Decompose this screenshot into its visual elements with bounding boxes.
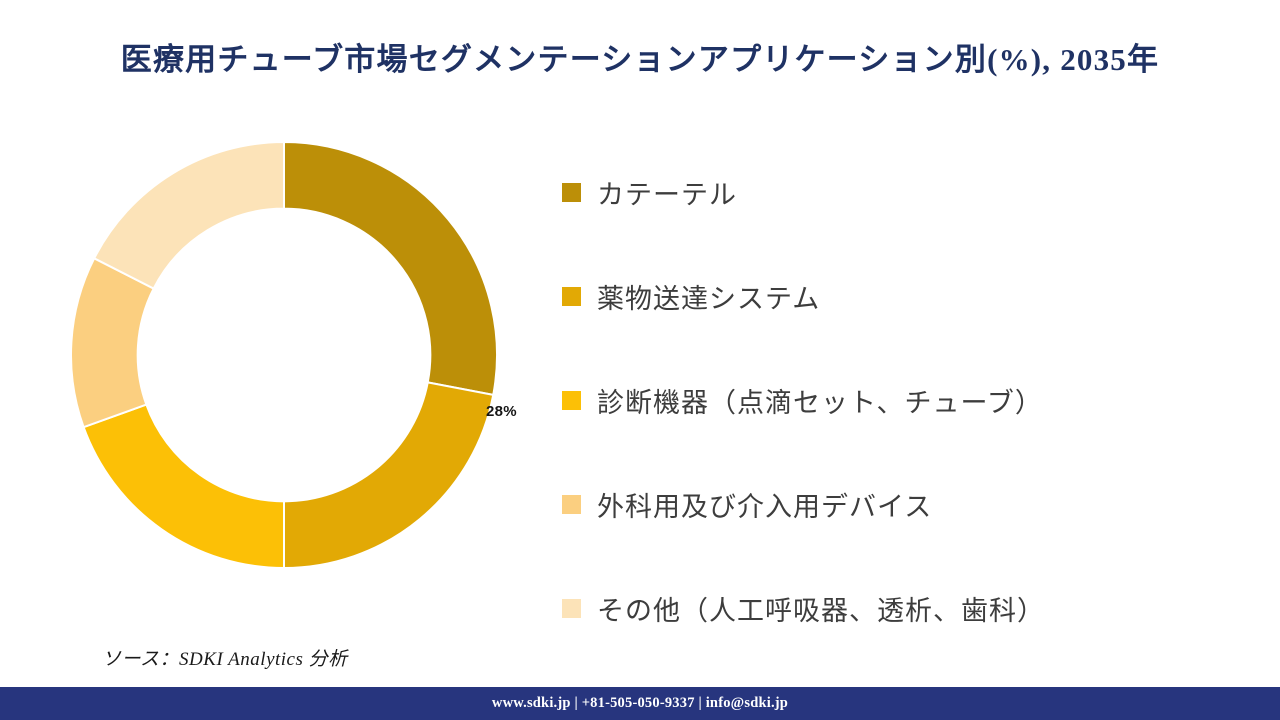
chart-legend: カテーテル 薬物送達システム 診断機器（点滴セット、チューブ） 外科用及び介入用…	[562, 140, 1262, 660]
legend-label-3: 外科用及び介入用デバイス	[597, 485, 932, 524]
legend-swatch-icon-2	[562, 391, 581, 410]
legend-swatch-icon-4	[562, 599, 581, 618]
footer-contact-text: www.sdki.jp | +81-505-050-9337 | info@sd…	[492, 695, 788, 712]
slice-value-label: 28%	[486, 403, 517, 420]
legend-label-0: カテーテル	[597, 173, 737, 212]
legend-item-0[interactable]: カテーテル	[562, 140, 1262, 244]
legend-swatch-icon-1	[562, 287, 581, 306]
legend-label-1: 薬物送達システム	[597, 277, 820, 316]
page-title: 医療用チューブ市場セグメンテーションアプリケーション別(%), 2035年	[0, 34, 1280, 79]
legend-swatch-icon-3	[562, 495, 581, 514]
donut-chart: 28%	[70, 141, 498, 569]
donut-chart-svg	[70, 141, 498, 569]
legend-item-2[interactable]: 診断機器（点滴セット、チューブ）	[562, 348, 1262, 452]
donut-slice-2[interactable]	[84, 405, 284, 568]
legend-item-3[interactable]: 外科用及び介入用デバイス	[562, 452, 1262, 556]
donut-slice-1[interactable]	[284, 382, 493, 568]
legend-label-4: その他（人工呼吸器、透析、歯科）	[597, 589, 1045, 628]
legend-label-2: 診断機器（点滴セット、チューブ）	[597, 381, 1043, 420]
legend-item-1[interactable]: 薬物送達システム	[562, 244, 1262, 348]
slide-canvas: 医療用チューブ市場セグメンテーションアプリケーション別(%), 2035年 28…	[0, 0, 1280, 720]
footer-bar: www.sdki.jp | +81-505-050-9337 | info@sd…	[0, 687, 1280, 720]
legend-swatch-icon-0	[562, 183, 581, 202]
donut-slice-3[interactable]	[71, 258, 154, 427]
donut-slice-group	[71, 142, 497, 568]
donut-slice-4[interactable]	[94, 142, 284, 289]
legend-item-4[interactable]: その他（人工呼吸器、透析、歯科）	[562, 556, 1262, 660]
source-note: ソース：SDKI Analytics 分析	[102, 644, 348, 671]
donut-slice-0[interactable]	[284, 142, 497, 395]
